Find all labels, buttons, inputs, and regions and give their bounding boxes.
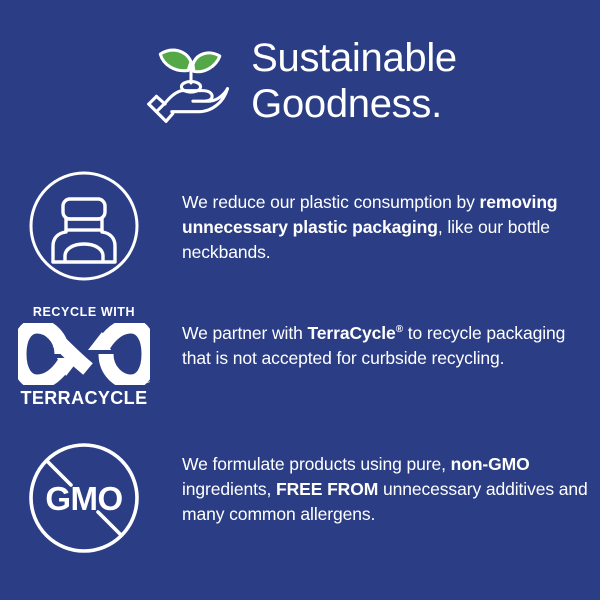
feature-text-cell: We reduce our plastic consumption by rem…: [168, 168, 600, 265]
infinity-recycle-loop-icon: ®: [18, 323, 150, 385]
feature-text-cell: We partner with TerraCycle® to recycle p…: [168, 303, 600, 371]
feature-icon-cell: GMO: [0, 440, 168, 554]
registered-mark: ®: [396, 324, 403, 335]
feature-text-non-gmo: We formulate products using pure, non-GM…: [182, 452, 590, 527]
page-title: Sustainable Goodness.: [251, 35, 457, 127]
feature-icon-cell: RECYCLE WITH ® TERRACYCLE: [0, 303, 168, 408]
brand-terracycle: TerraCycle: [308, 323, 396, 343]
registered-mark: ®: [144, 375, 150, 385]
gmo-label: GMO: [45, 480, 122, 517]
feature-icon-cell: [0, 168, 168, 282]
feature-row-plastic-reduction: We reduce our plastic consumption by rem…: [0, 168, 600, 282]
text-segment: We partner with: [182, 323, 308, 343]
feature-text-terracycle: We partner with TerraCycle® to recycle p…: [182, 321, 590, 371]
no-gmo-icon: GMO: [28, 442, 140, 554]
text-segment-bold: FREE FROM: [276, 479, 378, 499]
terracycle-top-label: RECYCLE WITH: [33, 305, 135, 319]
terracycle-bottom-label: TERRACYCLE: [20, 388, 147, 408]
hand-holding-sprout-icon: [143, 33, 239, 129]
text-segment-bold: TerraCycle®: [308, 323, 403, 343]
header: Sustainable Goodness.: [0, 22, 600, 140]
text-segment: ingredients,: [182, 479, 276, 499]
feature-text-cell: We formulate products using pure, non-GM…: [168, 440, 600, 527]
feature-row-non-gmo: GMO We formulate products using pure, no…: [0, 440, 600, 554]
feature-row-terracycle: RECYCLE WITH ® TERRACYCLE: [0, 303, 600, 408]
feature-text-plastic-reduction: We reduce our plastic consumption by rem…: [182, 190, 590, 265]
plastic-bottle-icon: [28, 170, 140, 282]
text-segment: We reduce our plastic consumption by: [182, 192, 480, 212]
sustainable-goodness-poster: Sustainable Goodness. We reduce our plas…: [0, 0, 600, 600]
text-segment-bold: non-GMO: [451, 454, 530, 474]
terracycle-logo-icon: RECYCLE WITH ® TERRACYCLE: [18, 305, 150, 408]
text-segment: We formulate products using pure,: [182, 454, 451, 474]
